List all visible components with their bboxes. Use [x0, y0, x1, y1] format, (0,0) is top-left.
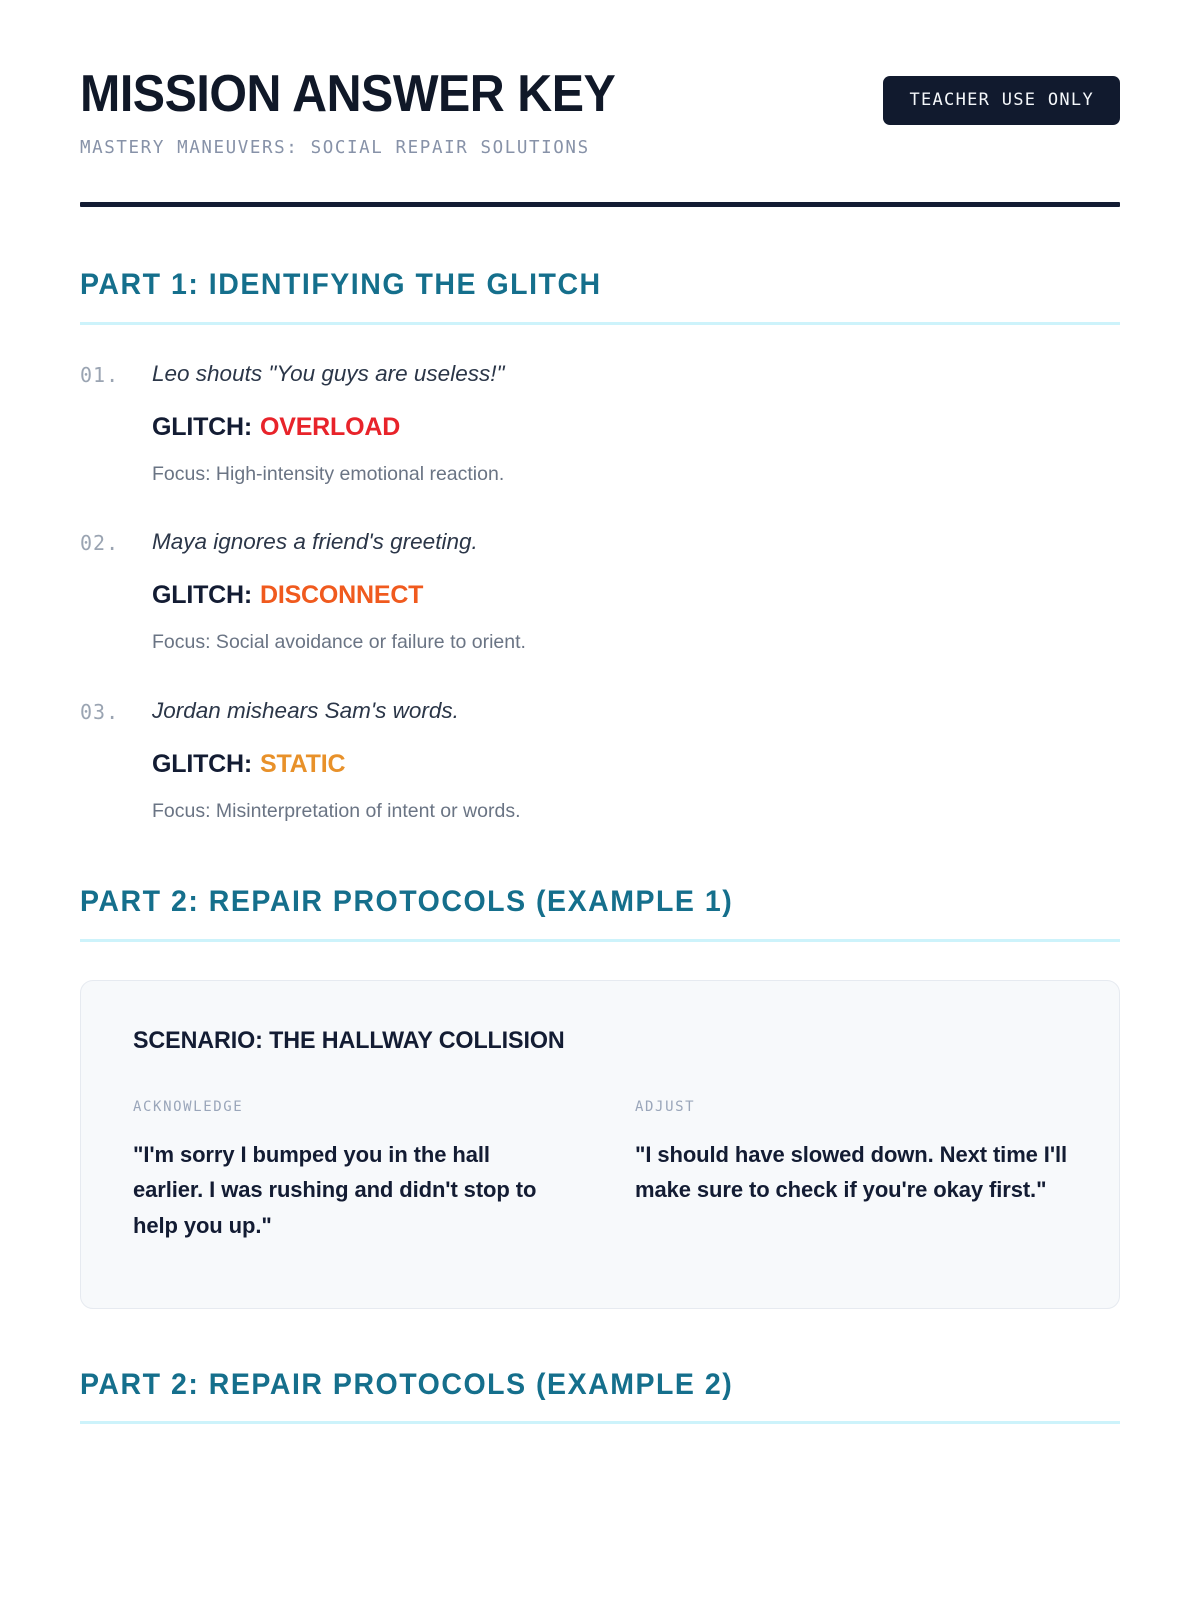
item-body: Leo shouts "You guys are useless!" GLITC… — [152, 359, 1120, 488]
item-answer: GLITCH:DISCONNECT — [152, 580, 1120, 610]
section-title-part-1: PART 1: IDENTIFYING THE GLITCH — [80, 269, 1068, 301]
section-divider-part-1 — [80, 322, 1120, 325]
section-divider-part-2-example-1 — [80, 939, 1120, 942]
column-label: ACKNOWLEDGE — [133, 1099, 565, 1115]
answer-label: GLITCH: — [152, 413, 252, 441]
section-part-1: PART 1: IDENTIFYING THE GLITCH 01. Leo s… — [80, 269, 1120, 824]
item-body: Jordan mishears Sam's words. GLITCH:STAT… — [152, 696, 1120, 825]
item-prompt: Jordan mishears Sam's words. — [152, 696, 1120, 725]
answer-key-page: MISSION ANSWER KEY MASTERY MANEUVERS: SO… — [0, 0, 1200, 1424]
glitch-item-list: 01. Leo shouts "You guys are useless!" G… — [80, 359, 1120, 825]
scenario-column-adjust: ADJUST "I should have slowed down. Next … — [635, 1099, 1067, 1244]
item-answer: GLITCH:OVERLOAD — [152, 412, 1120, 442]
list-item: 01. Leo shouts "You guys are useless!" G… — [80, 359, 1120, 488]
section-divider-part-2-example-2 — [80, 1421, 1120, 1424]
column-quote: "I'm sorry I bumped you in the hall earl… — [133, 1137, 565, 1244]
answer-label: GLITCH: — [152, 750, 252, 778]
list-item: 03. Jordan mishears Sam's words. GLITCH:… — [80, 696, 1120, 825]
answer-label: GLITCH: — [152, 581, 252, 609]
scenario-card: SCENARIO: THE HALLWAY COLLISION ACKNOWLE… — [80, 980, 1120, 1309]
item-prompt: Leo shouts "You guys are useless!" — [152, 359, 1120, 388]
scenario-title: SCENARIO: THE HALLWAY COLLISION — [133, 1027, 1039, 1055]
header-divider — [80, 202, 1120, 207]
item-prompt: Maya ignores a friend's greeting. — [152, 527, 1120, 556]
header-title-block: MISSION ANSWER KEY MASTERY MANEUVERS: SO… — [80, 68, 883, 158]
answer-value: OVERLOAD — [260, 413, 400, 441]
section-title-part-2-example-1: PART 2: REPAIR PROTOCOLS (EXAMPLE 1) — [80, 886, 1068, 918]
item-body: Maya ignores a friend's greeting. GLITCH… — [152, 527, 1120, 656]
item-focus-note: Focus: Misinterpretation of intent or wo… — [152, 798, 1120, 824]
item-focus-note: Focus: Social avoidance or failure to or… — [152, 629, 1120, 655]
document-header: MISSION ANSWER KEY MASTERY MANEUVERS: SO… — [80, 0, 1120, 158]
section-title-part-2-example-2: PART 2: REPAIR PROTOCOLS (EXAMPLE 2) — [80, 1369, 1068, 1401]
item-answer: GLITCH:STATIC — [152, 749, 1120, 779]
teacher-use-only-badge: TEACHER USE ONLY — [883, 76, 1120, 125]
scenario-column-acknowledge: ACKNOWLEDGE "I'm sorry I bumped you in t… — [133, 1099, 565, 1244]
column-quote: "I should have slowed down. Next time I'… — [635, 1137, 1067, 1208]
section-part-2-example-2: PART 2: REPAIR PROTOCOLS (EXAMPLE 2) — [80, 1369, 1120, 1425]
item-focus-note: Focus: High-intensity emotional reaction… — [152, 461, 1120, 487]
item-number: 01. — [80, 359, 152, 488]
scenario-columns: ACKNOWLEDGE "I'm sorry I bumped you in t… — [133, 1099, 1067, 1244]
item-number: 03. — [80, 696, 152, 825]
section-part-2-example-1: PART 2: REPAIR PROTOCOLS (EXAMPLE 1) SCE… — [80, 886, 1120, 1308]
item-number: 02. — [80, 527, 152, 656]
answer-value: STATIC — [260, 750, 345, 778]
column-label: ADJUST — [635, 1099, 1067, 1115]
page-title: MISSION ANSWER KEY — [80, 68, 827, 120]
list-item: 02. Maya ignores a friend's greeting. GL… — [80, 527, 1120, 656]
answer-value: DISCONNECT — [260, 581, 423, 609]
page-subtitle: MASTERY MANEUVERS: SOCIAL REPAIR SOLUTIO… — [80, 138, 883, 158]
